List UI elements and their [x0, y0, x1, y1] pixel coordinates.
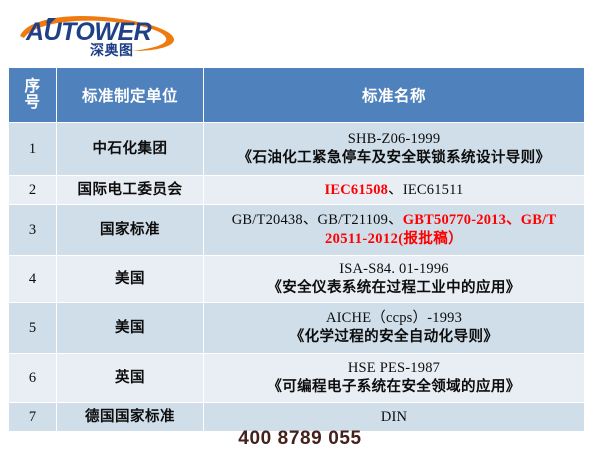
table-header: 序 号 标准制定单位 标准名称 [9, 68, 585, 123]
cell-standard-name: ISA-S84. 01-1996 《安全仪表系统在过程工业中的应用》 [204, 256, 585, 303]
standard-code: DIN [207, 408, 581, 427]
standard-code-wrapper: IEC61508、IEC61511 [207, 181, 581, 200]
standard-code-highlighted: IEC61508 [324, 182, 388, 198]
contact-phone-number: 400 8789 055 [0, 428, 600, 450]
column-header-sequence-line2: 号 [9, 95, 56, 111]
cell-standard-name: AICHE（ccps）-1993 《化学过程的安全自动化导则》 [204, 303, 585, 354]
table-body: 1 中石化集团 SHB-Z06-1999 《石油化工紧急停车及安全联锁系统设计导… [9, 123, 585, 432]
standard-code-highlighted-continued: 20511-2012(报批稿） [207, 230, 581, 249]
cell-organization: 英国 [57, 354, 204, 403]
column-header-standard-name: 标准名称 [204, 68, 585, 123]
cell-standard-name: IEC61508、IEC61511 [204, 176, 585, 205]
logo-graphic: AUTOWER 深奥图 [12, 8, 192, 60]
cell-sequence: 3 [9, 205, 57, 256]
standard-title: 《安全仪表系统在过程工业中的应用》 [207, 279, 581, 298]
table-row: 6 英国 HSE PES-1987 《可编程电子系统在安全领域的应用》 [9, 354, 585, 403]
cell-sequence: 5 [9, 303, 57, 354]
standard-title: 《石油化工紧急停车及安全联锁系统设计导则》 [207, 149, 581, 168]
table-header-row: 序 号 标准制定单位 标准名称 [9, 68, 585, 123]
standards-table: 序 号 标准制定单位 标准名称 1 中石化集团 SHB-Z06-1999 《石油… [8, 67, 585, 432]
standard-title: 《化学过程的安全自动化导则》 [207, 328, 581, 347]
standard-code: AICHE（ccps）-1993 [207, 309, 581, 328]
table-row: 3 国家标准 GB/T20438、GB/T21109、GBT50770-2013… [9, 205, 585, 256]
cell-standard-name: SHB-Z06-1999 《石油化工紧急停车及安全联锁系统设计导则》 [204, 123, 585, 176]
company-logo: AUTOWER 深奥图 [12, 8, 192, 60]
standard-code: 、IEC61511 [388, 182, 463, 198]
cell-sequence: 2 [9, 176, 57, 205]
standard-code: ISA-S84. 01-1996 [207, 260, 581, 279]
cell-organization: 美国 [57, 303, 204, 354]
cell-standard-name: GB/T20438、GB/T21109、GBT50770-2013、GB/T 2… [204, 205, 585, 256]
standard-code-wrapper: GB/T20438、GB/T21109、GBT50770-2013、GB/T [207, 211, 581, 230]
cell-organization: 国家标准 [57, 205, 204, 256]
logo-chinese-text: 深奥图 [90, 42, 134, 58]
column-header-sequence: 序 号 [9, 68, 57, 123]
cell-standard-name: HSE PES-1987 《可编程电子系统在安全领域的应用》 [204, 354, 585, 403]
cell-sequence: 4 [9, 256, 57, 303]
standard-code: GB/T20438、GB/T21109、 [232, 212, 403, 228]
cell-organization: 国际电工委员会 [57, 176, 204, 205]
cell-sequence: 1 [9, 123, 57, 176]
table-row: 4 美国 ISA-S84. 01-1996 《安全仪表系统在过程工业中的应用》 [9, 256, 585, 303]
column-header-sequence-line1: 序 [9, 79, 56, 95]
standard-code: HSE PES-1987 [207, 359, 581, 378]
column-header-organization: 标准制定单位 [57, 68, 204, 123]
standard-code: SHB-Z06-1999 [207, 130, 581, 149]
table-row: 5 美国 AICHE（ccps）-1993 《化学过程的安全自动化导则》 [9, 303, 585, 354]
standard-code-highlighted: GBT50770-2013、GB/T [403, 212, 556, 228]
table-row: 1 中石化集团 SHB-Z06-1999 《石油化工紧急停车及安全联锁系统设计导… [9, 123, 585, 176]
table-row: 2 国际电工委员会 IEC61508、IEC61511 [9, 176, 585, 205]
cell-organization: 美国 [57, 256, 204, 303]
standard-title: 《可编程电子系统在安全领域的应用》 [207, 378, 581, 397]
cell-sequence: 6 [9, 354, 57, 403]
cell-organization: 中石化集团 [57, 123, 204, 176]
